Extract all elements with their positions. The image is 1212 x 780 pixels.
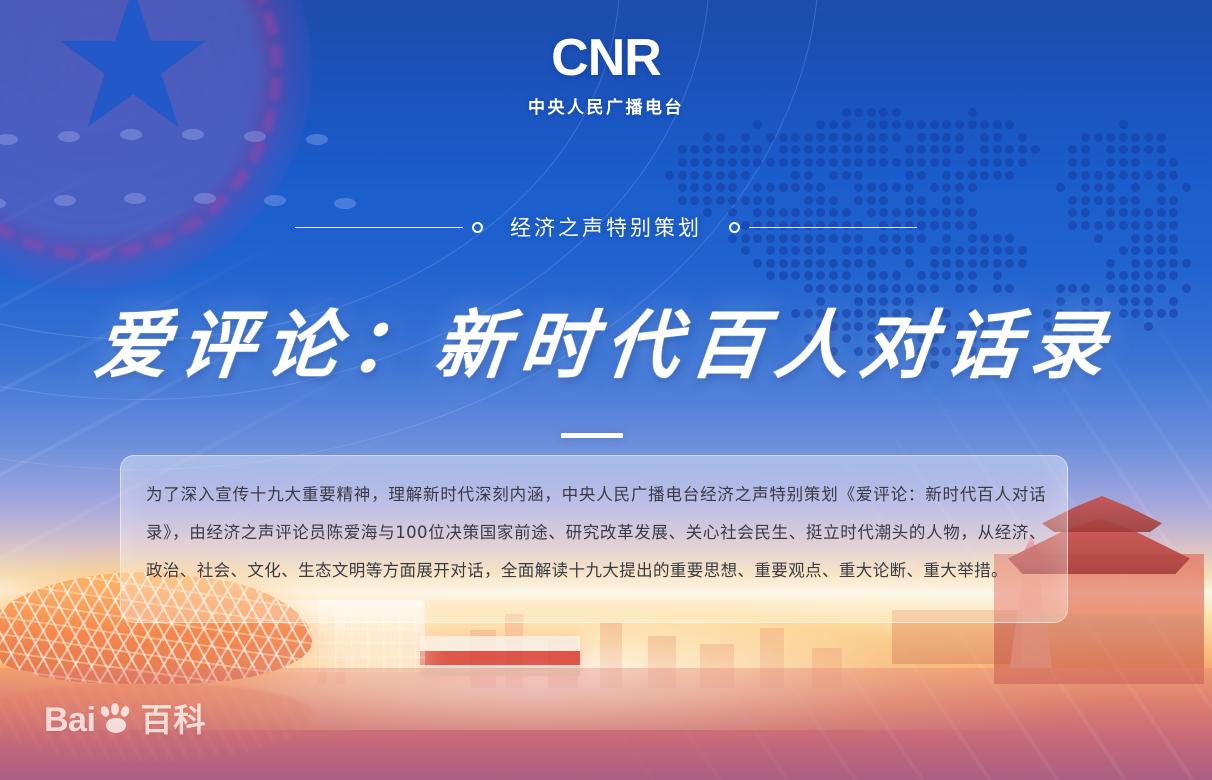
cnr-logo: CNR 中央人民广播电台 xyxy=(0,32,1212,118)
cnr-logo-name: 中央人民广播电台 xyxy=(0,93,1212,118)
baike-wordmark: 百科 xyxy=(140,704,206,736)
poster-canvas: CNR 中央人民广播电台 经济之声特别策划 爱评论：新时代百人对话录 为了深入宣… xyxy=(0,0,1212,780)
subtitle-row: 经济之声特别策划 xyxy=(0,212,1212,242)
baidu-paw-icon xyxy=(99,703,133,737)
ceiling-light-row xyxy=(0,192,420,206)
title-divider xyxy=(561,433,623,438)
description-text: 为了深入宣传十九大重要精神，理解新时代深刻内涵，中央人民广播电台经济之声特别策划… xyxy=(146,476,1046,590)
cnr-logo-mark: CNR xyxy=(0,32,1212,84)
subtitle-text: 经济之声特别策划 xyxy=(492,212,720,242)
circle-ring-icon xyxy=(472,222,483,233)
circle-ring-icon xyxy=(729,222,740,233)
baidu-baike-watermark: Bai 百科 xyxy=(44,703,206,737)
ceiling-light-row xyxy=(0,128,420,142)
page-title: 爱评论：新时代百人对话录 xyxy=(0,286,1212,393)
subtitle-rule-left xyxy=(295,227,463,228)
baidu-wordmark: Bai xyxy=(44,703,95,737)
subtitle-rule-right xyxy=(749,227,917,228)
